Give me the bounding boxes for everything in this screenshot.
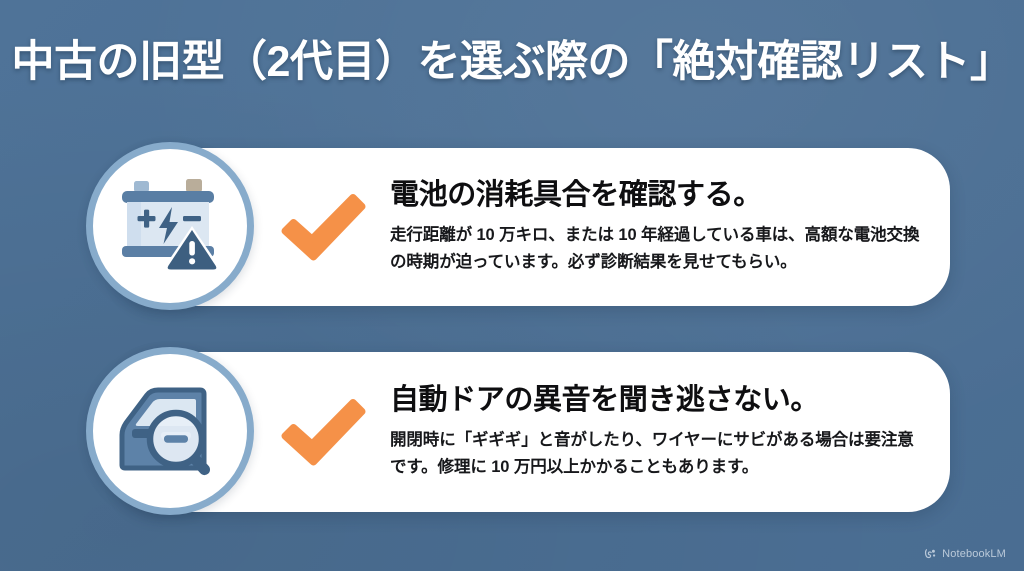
icon-circle-battery [86, 142, 254, 310]
page-title: 中古の旧型（2代目）を選ぶ際の「絶対確認リスト」 [0, 38, 1024, 86]
card-body-text: 開閉時に「ギギギ」と音がしたり、ワイヤーにサビがある場合は要注意です。修理に 1… [390, 427, 922, 480]
card-heading: 電池の消耗具合を確認する。 [390, 178, 922, 213]
notebooklm-watermark: NotebookLM [924, 547, 1006, 560]
icon-circle-car-door [86, 347, 254, 515]
car-door-magnifier-icon [114, 379, 226, 483]
page-title-text: 中古の旧型（2代目）を選ぶ際の「絶対確認リスト」 [12, 38, 1013, 86]
card-content: 自動ドアの異音を聞き逃さない。 開閉時に「ギギギ」と音がしたり、ワイヤーにサビが… [390, 352, 922, 512]
card-heading: 自動ドアの異音を聞き逃さない。 [390, 383, 922, 418]
notebooklm-label: NotebookLM [942, 548, 1006, 560]
card-body-text: 走行距離が 10 万キロ、または 10 年経過している車は、高額な電池交換の時期… [390, 222, 922, 275]
orange-check-icon [277, 187, 369, 267]
orange-check-icon [277, 392, 369, 472]
card-content: 電池の消耗具合を確認する。 走行距離が 10 万キロ、または 10 年経過してい… [390, 148, 922, 306]
notebooklm-logo-icon [924, 547, 937, 560]
car-battery-warning-icon [114, 174, 226, 278]
slide-canvas: 中古の旧型（2代目）を選ぶ際の「絶対確認リスト」 電池の消耗具合を確認する。 走… [0, 0, 1024, 571]
